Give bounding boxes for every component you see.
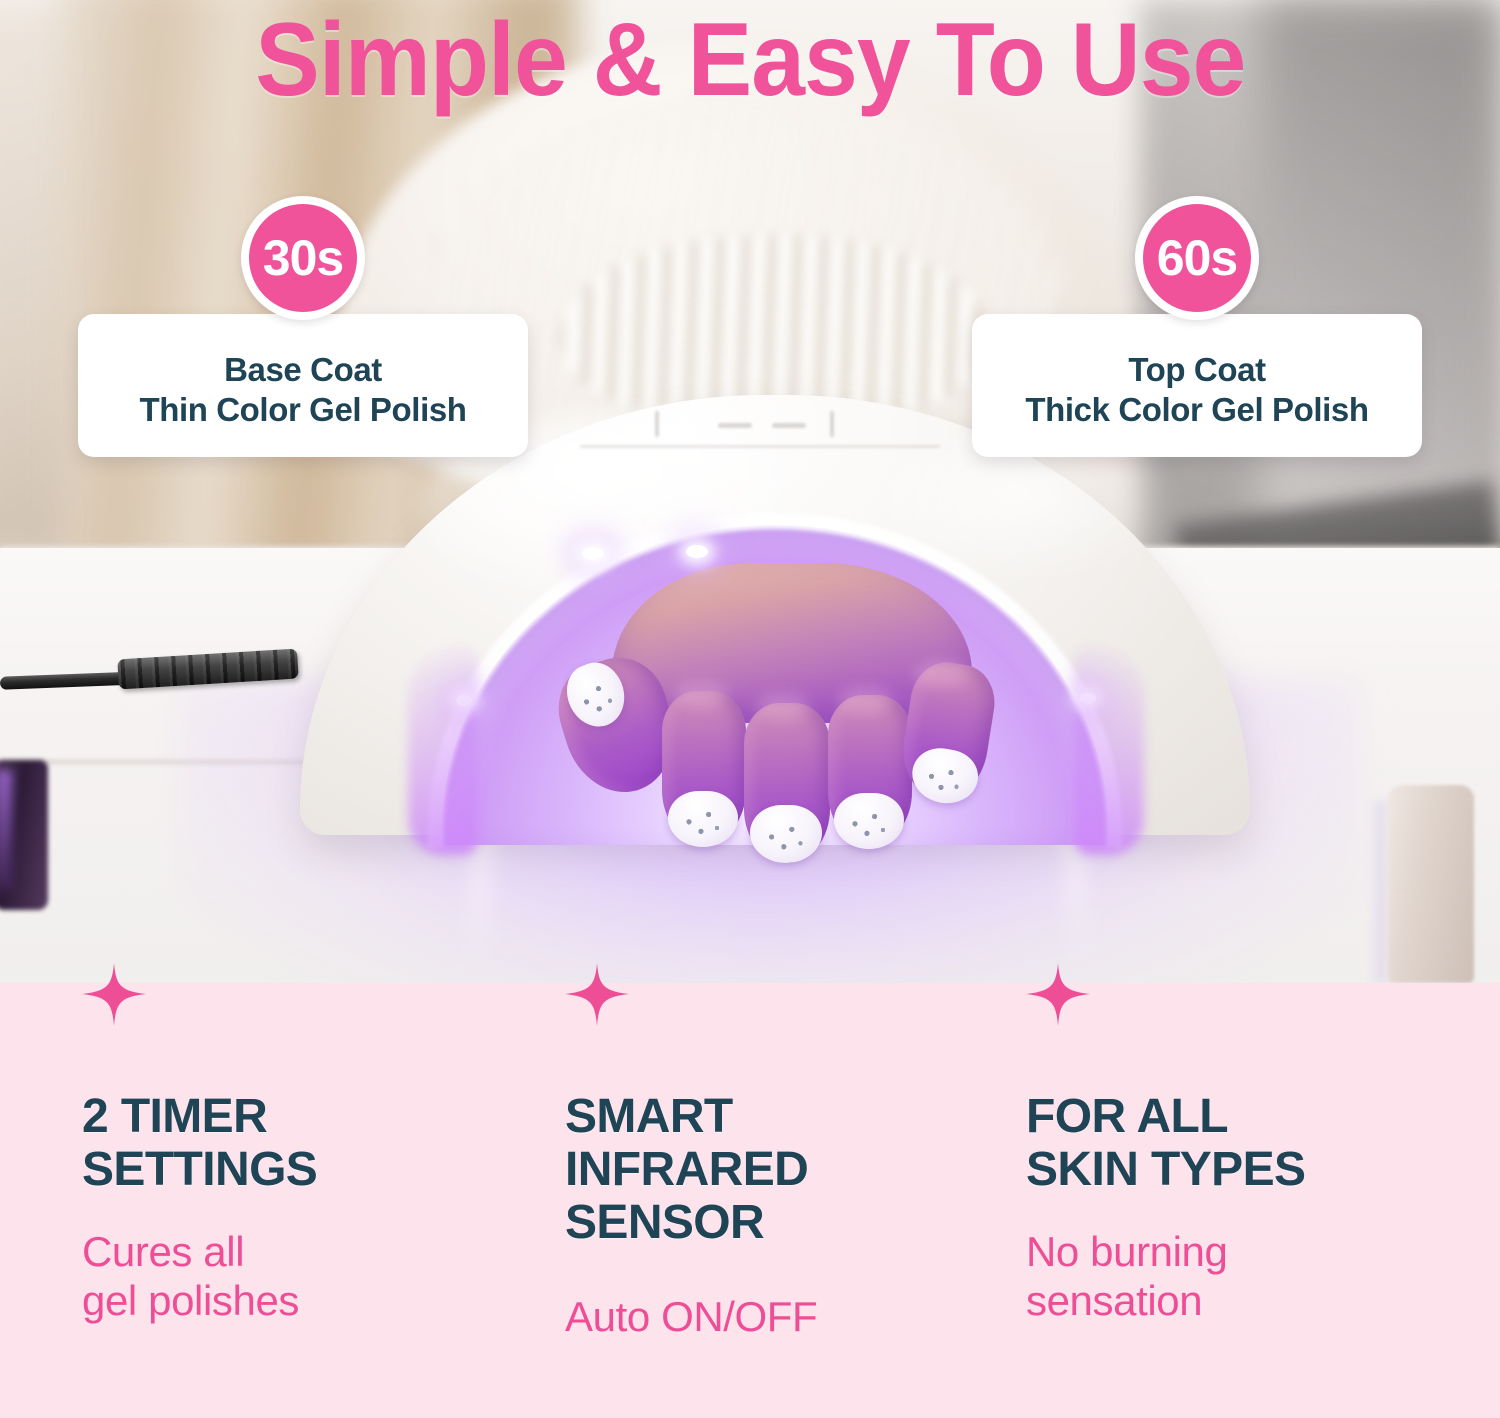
lamp-button-mark [655, 411, 659, 437]
feature-title-line: SKIN TYPES [1026, 1144, 1305, 1197]
timer-badge-30s: 30s [241, 196, 365, 320]
callout-line-1: Base Coat [88, 350, 518, 390]
nail-file-glow [1372, 800, 1388, 983]
lamp-seam [580, 445, 940, 448]
feature-sub-line: No burning [1026, 1228, 1227, 1277]
features-panel: 2 TIMER SETTINGS Cures all gel polishes … [0, 983, 1500, 1418]
timer-badge-60s: 60s [1135, 196, 1259, 320]
lamp-button-mark [772, 423, 806, 428]
callout-line-2: Thick Color Gel Polish [982, 390, 1412, 430]
feature-title-line: FOR ALL [1026, 1091, 1305, 1144]
uv-nail-lamp [300, 395, 1250, 835]
feature-title-line: INFRARED [565, 1144, 808, 1197]
feature-title: SMART INFRARED SENSOR [565, 1091, 808, 1249]
callout-line-2: Thin Color Gel Polish [88, 390, 518, 430]
product-infographic: Simple & Easy To Use Base Coat Thin Colo… [0, 0, 1500, 1418]
feature-title: 2 TIMER SETTINGS [82, 1091, 317, 1197]
feature-sub-line: gel polishes [82, 1277, 299, 1326]
feature-sub-line: sensation [1026, 1277, 1227, 1326]
feature-sub-line: Auto ON/OFF [565, 1293, 817, 1342]
sparkle-icon [1026, 963, 1090, 1027]
lamp-button-mark [830, 411, 834, 437]
sparkle-icon [565, 963, 629, 1027]
feature-title-line: SMART [565, 1091, 808, 1144]
product-photo [0, 0, 1500, 983]
callout-card: Top Coat Thick Color Gel Polish [972, 314, 1422, 457]
page-title: Simple & Easy To Use [255, 8, 1245, 112]
lamp-underglow-right [1074, 645, 1144, 855]
sparkle-icon [82, 963, 146, 1027]
lamp-underglow-left [408, 645, 478, 855]
feature-subtitle: Cures all gel polishes [82, 1228, 299, 1325]
callout-card: Base Coat Thin Color Gel Polish [78, 314, 528, 457]
feature-subtitle: No burning sensation [1026, 1228, 1227, 1325]
uv-led-icon [582, 547, 604, 560]
nail-file-icon [1388, 785, 1474, 983]
uv-led-icon [686, 545, 708, 558]
lamp-button-mark [718, 423, 752, 428]
feature-title-line: SENSOR [565, 1197, 808, 1250]
feature-sub-line: Cures all [82, 1228, 299, 1277]
callout-line-1: Top Coat [982, 350, 1412, 390]
bottle-glow [0, 770, 12, 890]
feature-title-line: 2 TIMER [82, 1091, 317, 1144]
feature-title: FOR ALL SKIN TYPES [1026, 1091, 1305, 1197]
headline-band: Simple & Easy To Use [0, 0, 1500, 120]
feature-subtitle: Auto ON/OFF [565, 1293, 817, 1342]
feature-title-line: SETTINGS [82, 1144, 317, 1197]
